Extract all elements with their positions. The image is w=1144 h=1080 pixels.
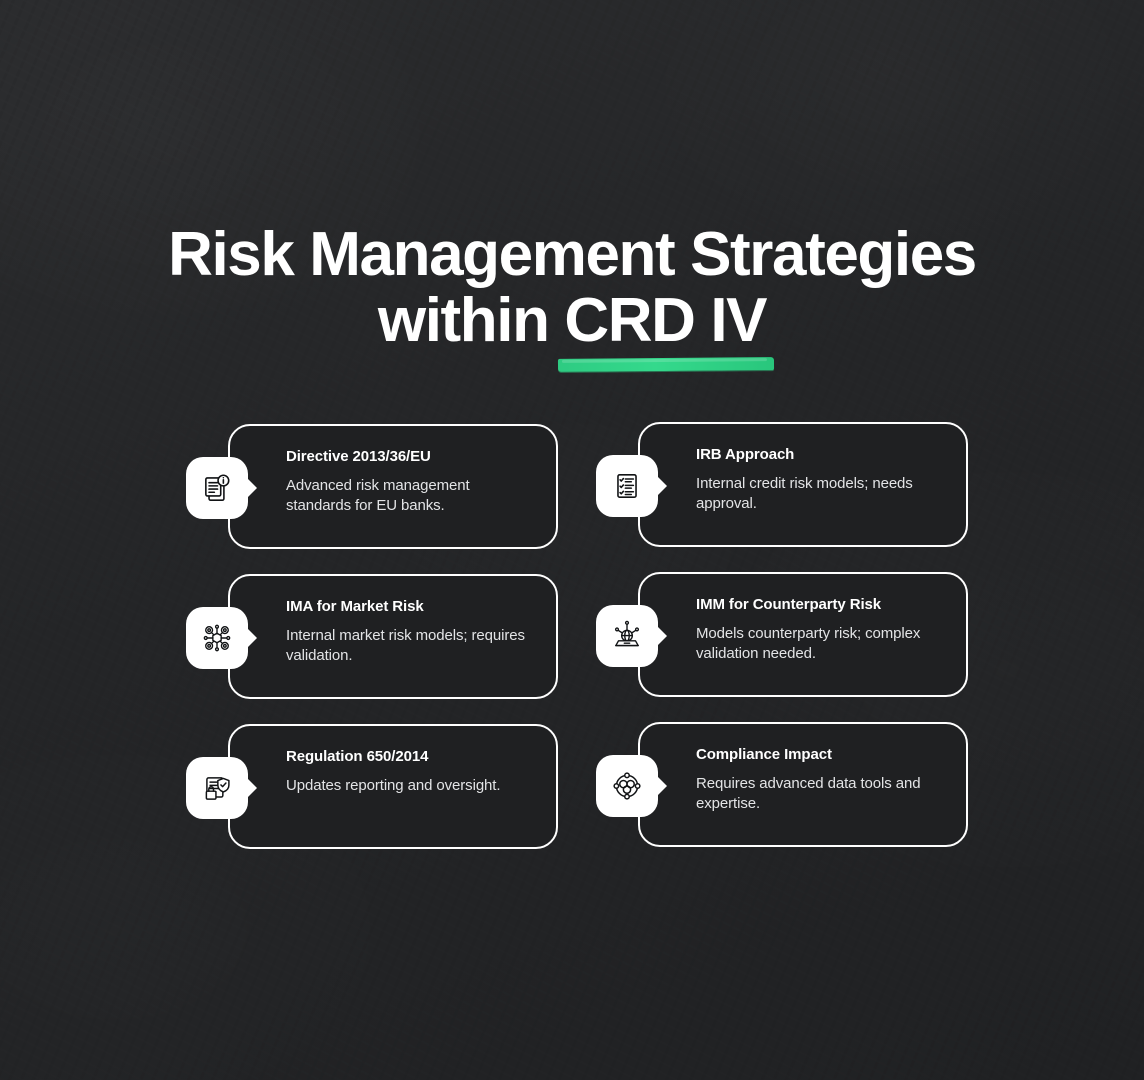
page-title: Risk Management Strategies within CRD IV [0,222,1144,355]
card-cell-5: Regulation 650/2014 Updates reporting an… [184,724,562,849]
green-underline-stroke [558,357,774,372]
title-line-2: within CRD IV [0,288,1144,354]
card-description: Advanced risk management standards for E… [286,476,536,516]
document-shield-lock-icon [186,757,248,819]
card-imm-for-counterparty-risk[interactable]: IMM for Counterparty Risk Models counter… [638,572,968,697]
card-row-2: IMA for Market Risk Internal market risk… [184,574,970,724]
title-highlight-wrap: CRD IV [564,288,766,354]
card-description: Requires advanced data tools and experti… [696,774,946,814]
card-cell-4: IMM for Counterparty Risk Models counter… [594,572,972,697]
card-title: IMA for Market Risk [286,598,536,617]
card-directive-2013-36-eu[interactable]: Directive 2013/36/EU Advanced risk manag… [228,424,558,549]
card-cell-6: Compliance Impact Requires advanced data… [594,722,972,847]
card-description: Internal market risk models; requires va… [286,626,536,666]
card-title: Compliance Impact [696,746,946,765]
network-hub-icon [596,755,658,817]
document-info-icon [186,457,248,519]
card-irb-approach[interactable]: IRB Approach Internal credit risk models… [638,422,968,547]
card-ima-for-market-risk[interactable]: IMA for Market Risk Internal market risk… [228,574,558,699]
card-regulation-650-2014[interactable]: Regulation 650/2014 Updates reporting an… [228,724,558,849]
infographic-page: Risk Management Strategies within CRD IV [0,0,1144,1080]
card-title: IMM for Counterparty Risk [696,596,946,615]
card-description: Models counterparty risk; complex valida… [696,624,946,664]
card-description: Updates reporting and oversight. [286,776,536,796]
title-prefix: within [378,286,565,355]
card-title: Directive 2013/36/EU [286,448,536,467]
card-cell-2: IRB Approach Internal credit risk models… [594,422,972,547]
title-line-1: Risk Management Strategies [0,222,1144,288]
card-grid: Directive 2013/36/EU Advanced risk manag… [184,424,970,874]
card-description: Internal credit risk models; needs appro… [696,474,946,514]
card-cell-1: Directive 2013/36/EU Advanced risk manag… [184,424,562,549]
laptop-globe-network-icon [596,605,658,667]
checklist-document-icon [596,455,658,517]
card-row-3: Regulation 650/2014 Updates reporting an… [184,724,970,874]
card-row-1: Directive 2013/36/EU Advanced risk manag… [184,424,970,574]
card-title: Regulation 650/2014 [286,748,536,767]
card-title: IRB Approach [696,446,946,465]
gear-network-icon [186,607,248,669]
card-compliance-impact[interactable]: Compliance Impact Requires advanced data… [638,722,968,847]
title-highlight-text: CRD IV [564,286,766,355]
card-cell-3: IMA for Market Risk Internal market risk… [184,574,562,699]
